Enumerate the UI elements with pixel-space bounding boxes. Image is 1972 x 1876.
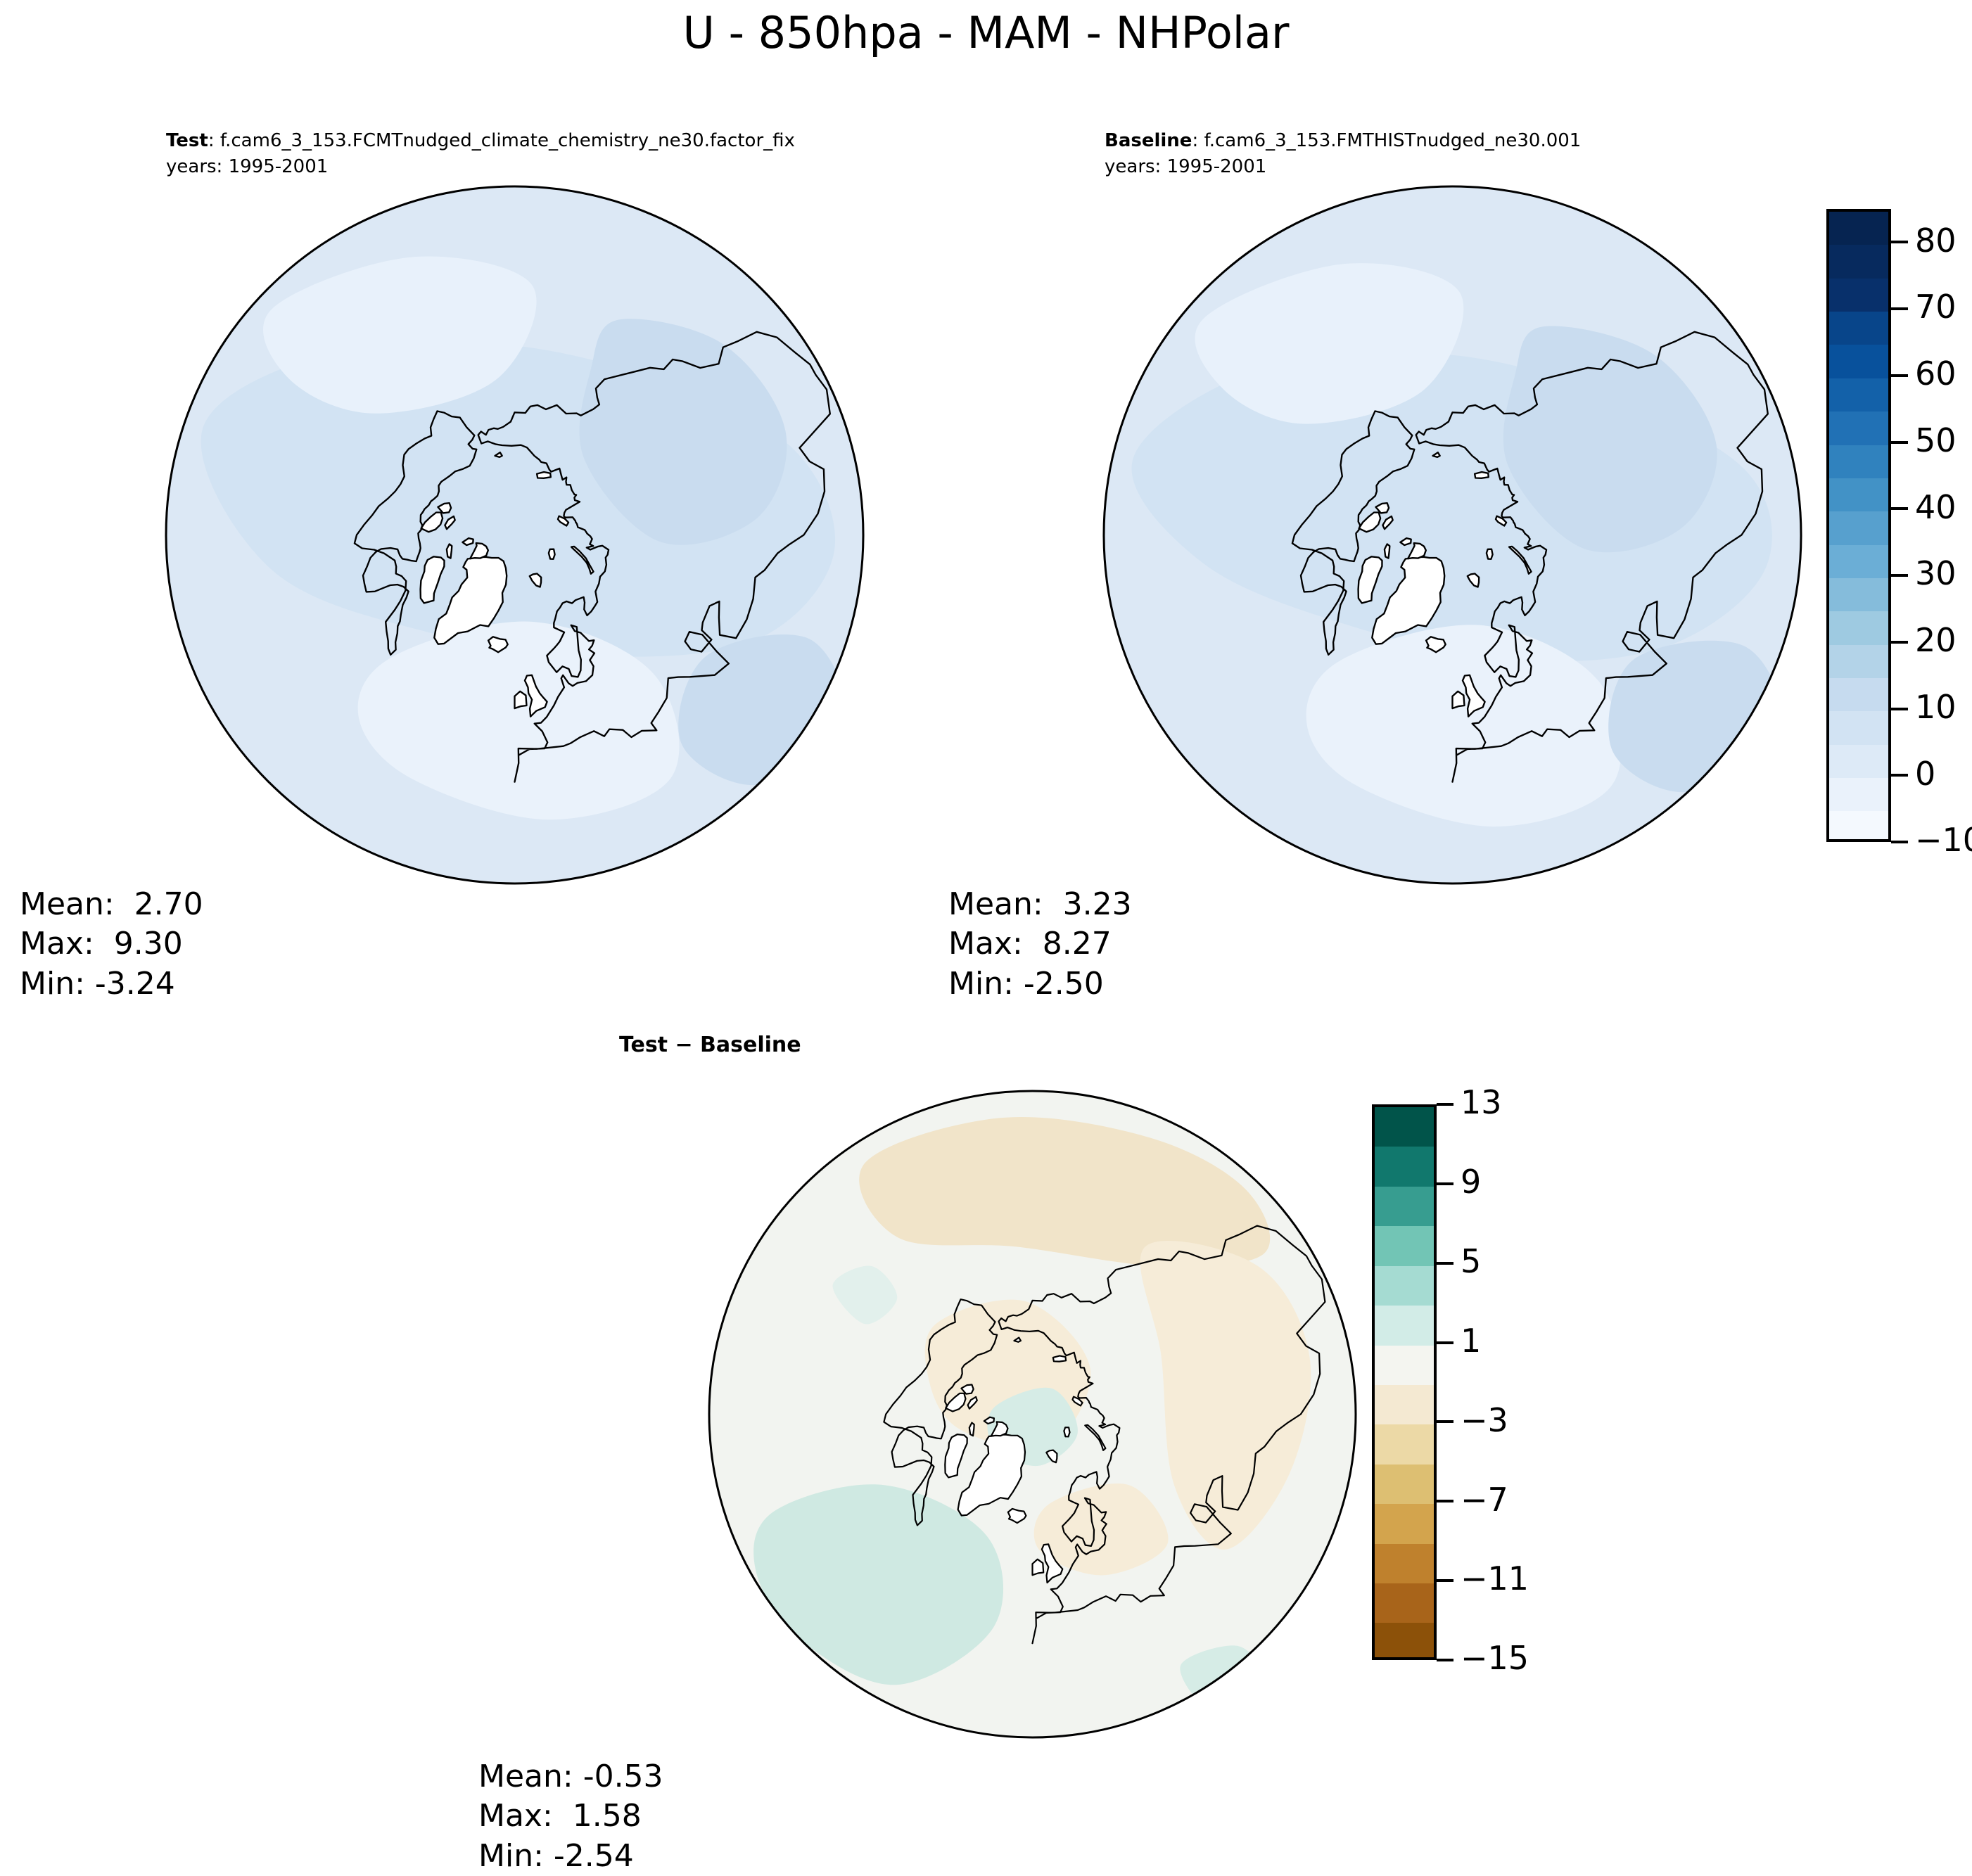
coastline xyxy=(1487,549,1493,559)
colorbar-band xyxy=(1375,1147,1434,1186)
colorbar-tick xyxy=(1891,441,1908,444)
polar-map-svg xyxy=(164,184,865,886)
brbg-colorbar-bands xyxy=(1372,1104,1437,1660)
colorbar-tick-label: 60 xyxy=(1915,357,1957,390)
colorbar-tick xyxy=(1437,1341,1453,1344)
colorbar-tick xyxy=(1437,1500,1453,1502)
colorbar-band xyxy=(1375,1544,1434,1583)
colorbar-tick-label: −3 xyxy=(1461,1404,1508,1436)
colorbar-tick-label: 13 xyxy=(1461,1086,1502,1118)
test-panel-header: Test: f.cam6_3_153.FCMTnudged_climate_ch… xyxy=(166,128,795,180)
colorbar-tick xyxy=(1891,841,1908,843)
colorbar-tick xyxy=(1437,1262,1453,1265)
colorbar-tick-label: 80 xyxy=(1915,224,1957,257)
baseline-label: Baseline xyxy=(1105,130,1192,151)
baseline-years: years: 1995-2001 xyxy=(1105,154,1581,180)
difference-stats: Mean: -0.53Max: 1.58Min: -2.54 xyxy=(478,1757,663,1876)
colorbar-band xyxy=(1375,1504,1434,1543)
colorbar-tick-label: 5 xyxy=(1461,1245,1481,1277)
colorbar-tick-label: −10 xyxy=(1915,824,1972,856)
test-separator: : xyxy=(208,130,215,151)
baseline-map xyxy=(1102,184,1803,886)
colorbar-band xyxy=(1829,312,1888,345)
colorbar-tick xyxy=(1891,574,1908,577)
colorbar-band xyxy=(1829,611,1888,644)
colorbar-tick-label: 50 xyxy=(1915,424,1957,457)
difference-mean: Mean: -0.53 xyxy=(478,1757,663,1797)
test-case-name: f.cam6_3_153.FCMTnudged_climate_chemistr… xyxy=(220,130,795,151)
colorbar-band xyxy=(1829,678,1888,711)
colorbar-tick-label: 20 xyxy=(1915,624,1957,656)
brbg-colorbar: −15−11−7−315913 xyxy=(1372,1104,1513,1660)
test-mean: Mean: 2.70 xyxy=(20,885,203,924)
colorbar-tick xyxy=(1437,1182,1453,1185)
contour-region xyxy=(1608,641,1781,792)
colorbar-tick xyxy=(1891,374,1908,377)
difference-max: Max: 1.58 xyxy=(478,1797,663,1836)
coastline xyxy=(1385,544,1389,559)
test-map xyxy=(164,184,865,886)
blues-colorbar: −1001020304050607080 xyxy=(1826,209,1967,842)
colorbar-tick-label: 9 xyxy=(1461,1166,1481,1198)
baseline-stats: Mean: 3.23Max: 8.27Min: -2.50 xyxy=(948,885,1132,1004)
coastline xyxy=(1053,1355,1066,1361)
test-years: years: 1995-2001 xyxy=(166,154,795,180)
coastline xyxy=(1033,1559,1044,1576)
colorbar-band xyxy=(1375,1306,1434,1345)
coastline xyxy=(969,1423,974,1436)
baseline-panel-header: Baseline: f.cam6_3_153.FMTHISTnudged_ne3… xyxy=(1105,128,1581,180)
colorbar-band xyxy=(1829,478,1888,511)
page-title: U - 850hpa - MAM - NHPolar xyxy=(0,7,1972,58)
colorbar-tick xyxy=(1891,641,1908,644)
colorbar-band xyxy=(1829,645,1888,678)
baseline-separator: : xyxy=(1192,130,1198,151)
baseline-mean: Mean: 3.23 xyxy=(948,885,1132,924)
colorbar-tick xyxy=(1891,507,1908,510)
colorbar-band xyxy=(1375,1226,1434,1265)
colorbar-band xyxy=(1829,778,1888,811)
colorbar-tick-label: 30 xyxy=(1915,557,1957,589)
blues-colorbar-bands xyxy=(1826,209,1891,842)
colorbar-band xyxy=(1829,545,1888,578)
colorbar-band xyxy=(1375,1187,1434,1226)
colorbar-band xyxy=(1829,212,1888,245)
test-stats: Mean: 2.70Max: 9.30Min: -3.24 xyxy=(20,885,203,1004)
colorbar-tick xyxy=(1891,708,1908,710)
colorbar-tick xyxy=(1437,1420,1453,1423)
coastline xyxy=(537,472,551,478)
colorbar-band xyxy=(1375,1465,1434,1504)
difference-map xyxy=(707,1089,1358,1740)
colorbar-band xyxy=(1829,279,1888,312)
baseline-max: Max: 8.27 xyxy=(948,924,1132,964)
colorbar-tick-label: 10 xyxy=(1915,691,1957,723)
colorbar-tick xyxy=(1891,774,1908,777)
coastline xyxy=(1475,472,1489,478)
coastline xyxy=(515,691,527,708)
colorbar-band xyxy=(1829,445,1888,478)
figure-canvas: U - 850hpa - MAM - NHPolar Test: f.cam6_… xyxy=(0,0,1972,1876)
test-min: Min: -3.24 xyxy=(20,964,203,1004)
colorbar-band xyxy=(1829,511,1888,544)
colorbar-band xyxy=(1829,245,1888,278)
colorbar-band xyxy=(1829,578,1888,611)
colorbar-band xyxy=(1829,345,1888,378)
colorbar-tick xyxy=(1891,307,1908,310)
difference-panel-header: Test − Baseline xyxy=(619,1033,801,1057)
colorbar-band xyxy=(1829,811,1888,842)
colorbar-tick-label: −11 xyxy=(1461,1562,1529,1595)
colorbar-band xyxy=(1375,1424,1434,1464)
colorbar-tick-label: 70 xyxy=(1915,291,1957,323)
difference-min: Min: -2.54 xyxy=(478,1837,663,1876)
colorbar-tick xyxy=(1437,1103,1453,1106)
colorbar-band xyxy=(1829,411,1888,445)
colorbar-band xyxy=(1375,1385,1434,1424)
coastline xyxy=(1064,1427,1069,1436)
colorbar-tick xyxy=(1891,241,1908,243)
colorbar-band xyxy=(1375,1107,1434,1147)
colorbar-band xyxy=(1375,1623,1434,1660)
polar-map-svg xyxy=(1102,184,1803,886)
coastline xyxy=(549,549,555,559)
colorbar-tick-label: 1 xyxy=(1461,1325,1481,1357)
test-label: Test xyxy=(166,130,208,151)
colorbar-band xyxy=(1829,378,1888,411)
coastline xyxy=(1453,691,1465,708)
colorbar-band xyxy=(1375,1266,1434,1306)
colorbar-band xyxy=(1829,711,1888,744)
colorbar-tick xyxy=(1437,1659,1453,1661)
polar-map-svg xyxy=(707,1089,1358,1740)
colorbar-band xyxy=(1375,1346,1434,1385)
colorbar-tick xyxy=(1437,1579,1453,1582)
coastline xyxy=(447,544,452,559)
colorbar-band xyxy=(1375,1583,1434,1623)
colorbar-tick-label: −7 xyxy=(1461,1483,1508,1516)
baseline-min: Min: -2.50 xyxy=(948,964,1132,1004)
test-max: Max: 9.30 xyxy=(20,924,203,964)
colorbar-tick-label: 40 xyxy=(1915,491,1957,523)
baseline-case-name: f.cam6_3_153.FMTHISTnudged_ne30.001 xyxy=(1204,130,1581,151)
colorbar-tick-label: 0 xyxy=(1915,758,1935,790)
colorbar-tick-label: −15 xyxy=(1461,1642,1529,1674)
colorbar-band xyxy=(1829,745,1888,778)
